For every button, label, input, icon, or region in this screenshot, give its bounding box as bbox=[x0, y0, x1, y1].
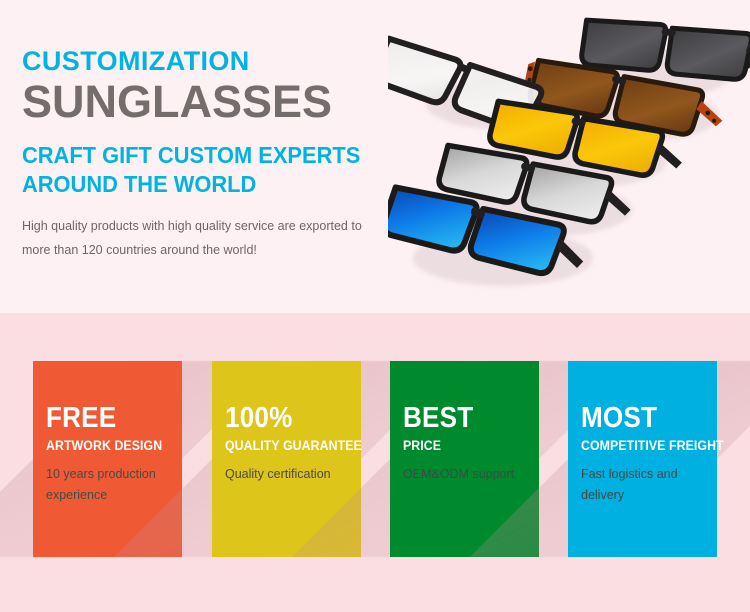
promo-banner: CUSTOMIZATION SUNGLASSES CRAFT GIFT CUST… bbox=[0, 0, 750, 612]
features-section: FREE ARTWORK DESIGN 10 years production … bbox=[0, 313, 750, 612]
card-description: 10 years production experience bbox=[46, 464, 170, 507]
card-subhead: COMPETITIVE FREIGHT bbox=[581, 438, 690, 453]
card-subhead: ARTWORK DESIGN bbox=[46, 438, 155, 453]
hero-copy-block: CUSTOMIZATION SUNGLASSES CRAFT GIFT CUST… bbox=[22, 48, 392, 263]
sunglasses-illustration bbox=[388, 4, 750, 310]
card-headline: MOST bbox=[581, 404, 693, 433]
card-description: Fast logistics and delivery bbox=[581, 464, 705, 507]
card-subhead: QUALITY GUARANTEE bbox=[225, 438, 334, 453]
hero-eyebrow: CUSTOMIZATION bbox=[22, 48, 392, 75]
hero-tagline: CRAFT GIFT CUSTOM EXPERTS AROUND THE WOR… bbox=[22, 141, 374, 200]
product-photo bbox=[388, 4, 750, 310]
hero-description: High quality products with high quality … bbox=[22, 214, 370, 263]
card-headline: FREE bbox=[46, 404, 158, 433]
hero-section: CUSTOMIZATION SUNGLASSES CRAFT GIFT CUST… bbox=[0, 0, 750, 313]
card-body[interactable]: MOST COMPETITIVE FREIGHT Fast logistics … bbox=[568, 361, 717, 557]
card-headline: BEST bbox=[403, 404, 515, 433]
page-title: SUNGLASSES bbox=[22, 79, 392, 125]
card-subhead: PRICE bbox=[403, 438, 512, 453]
card-description: OEM&ODM support bbox=[403, 464, 527, 486]
card-headline: 100% bbox=[225, 404, 337, 433]
card-description: Quality certification bbox=[225, 464, 349, 486]
